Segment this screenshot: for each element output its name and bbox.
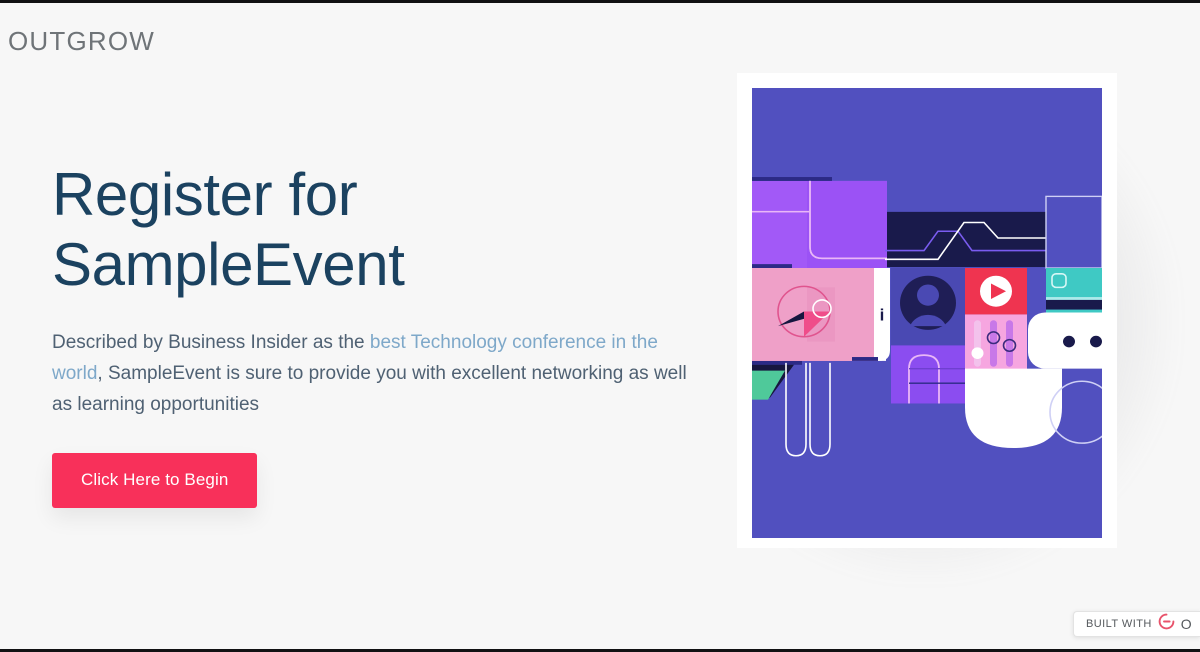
hero-illustration: i — [752, 88, 1102, 538]
illustration-svg: i — [752, 88, 1102, 538]
hero-description-part-1: Described by Business Insider as the — [52, 332, 370, 353]
built-with-badge[interactable]: BUILT WITH O — [1073, 611, 1200, 637]
built-with-label: BUILT WITH — [1086, 618, 1152, 630]
brand-logo: OUTGROW — [8, 28, 155, 54]
hero-description: Described by Business Insider as the bes… — [52, 328, 692, 420]
svg-text:i: i — [880, 306, 885, 325]
hero-description-part-2: , SampleEvent is sure to provide you wit… — [52, 363, 687, 415]
page-title-line-1: Register for — [52, 161, 357, 228]
top-edge-rule — [0, 0, 1200, 3]
page-title-line-2: SampleEvent — [52, 231, 404, 298]
outgrow-mark-icon — [1158, 613, 1175, 635]
hero-section: Register for SampleEvent Described by Bu… — [52, 160, 692, 508]
page-title: Register for SampleEvent — [52, 160, 482, 300]
hero-image-card: i — [737, 73, 1117, 548]
built-with-brand: O — [1181, 616, 1192, 632]
cta-begin-button[interactable]: Click Here to Begin — [52, 453, 257, 508]
